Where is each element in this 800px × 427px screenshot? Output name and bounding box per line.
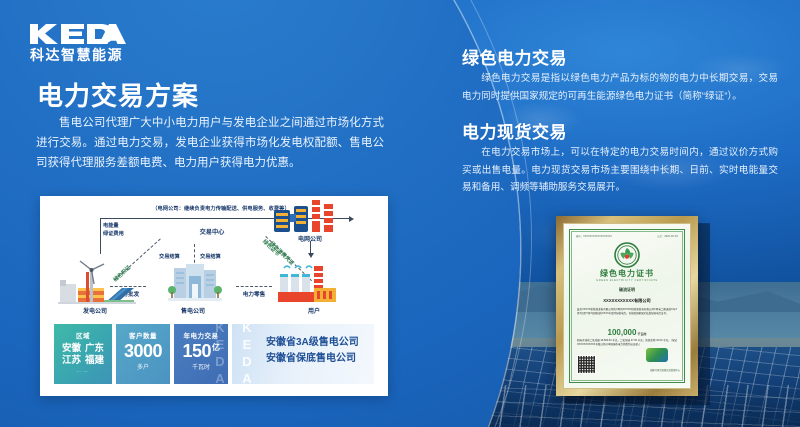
certificate-frame: 编号：XXXXXXXXXXXXXXXXXX 公示：202X-XX-XX 绿色电力… <box>556 216 698 396</box>
brand-logo-cn: 科达智慧能源 <box>30 48 126 62</box>
stat-card-annual-trade: 年电力交易 150亿 千瓦时 KEDA <box>174 324 228 384</box>
diagram-node-retailer: 售电公司 <box>158 306 228 315</box>
user-factory-illustration <box>278 262 338 304</box>
stat-customers-caption: 客户数量 <box>116 330 170 340</box>
green-certificate: 编号：XXXXXXXXXXXXXXXXXX 公示：202X-XX-XX 绿色电力… <box>556 216 704 402</box>
diagram-node-generator: 发电公司 <box>60 306 130 315</box>
stat-card-qualification: KEDA 安徽省3A级售电公司 安徽省保底售电公司 <box>232 324 374 384</box>
diagram-label-settle-left: 交易结算 <box>159 253 180 260</box>
diagram-label-settle-right: 交易结算 <box>200 253 221 260</box>
diagram-dash-retail <box>236 286 272 287</box>
stat-region-dots: …… <box>54 368 112 374</box>
certificate-body: 兹有XXXXX新能源发电有限公司的X风场XXXXX新能源发电有限公司X风电二期通… <box>577 308 677 316</box>
stats-row: 区域 安徽 广东 江苏 福建 …… 客户数量 3000 多户 年电力交易 150… <box>54 324 374 384</box>
region-item: 广东 <box>85 343 104 355</box>
diagram-label-cert-fee: 绿证费用 <box>103 230 124 237</box>
diagram-left-connector <box>100 218 101 254</box>
qualification-line-1: 安徽省3A级售电公司 <box>266 335 368 351</box>
qualification-lines: 安徽省3A级售电公司 安徽省保底售电公司 <box>266 335 368 367</box>
power-generation-illustration <box>58 258 136 304</box>
region-item: 安徽 <box>62 343 81 355</box>
certificate-seal-icon <box>614 242 640 268</box>
diagram-card: （电网公司：继续负责电力传输配送、供电服务、收费等） 电能量 绿证费用 交易中心… <box>40 196 388 396</box>
region-item: 江苏 <box>62 355 81 367</box>
certificate-number: 编号：XXXXXXXXXXXXXXXXXX <box>576 234 612 238</box>
stat-customers-sub: 多户 <box>116 362 170 371</box>
certificate-subtitle: GREEN ELECTRICITY CERTIFICATE <box>564 279 690 282</box>
stat-region-values: 安徽 广东 江苏 福建 <box>54 343 112 367</box>
brand-logo: 科达智慧能源 <box>30 22 126 62</box>
stat-card-region: 区域 安徽 广东 江苏 福建 …… <box>54 324 112 384</box>
stat-card-customers: 客户数量 3000 多户 <box>116 324 170 384</box>
region-item: 福建 <box>85 355 104 367</box>
qualification-line-2: 安徽省保底售电公司 <box>266 351 368 367</box>
certificate-title: 绿色电力证书 <box>564 268 690 279</box>
stat-customers-value: 3000 <box>116 342 170 361</box>
diagram-label-retail: 电力零售 <box>222 290 286 298</box>
certificate-company: XXXXXXXXXXX有限公司 <box>564 298 690 304</box>
certificate-page: 编号：XXXXXXXXXXXXXXXXXX 公示：202X-XX-XX 绿色电力… <box>563 223 691 389</box>
keda-logo-icon <box>30 22 126 46</box>
certificate-amount: 100,000 <box>608 328 637 337</box>
section-heading-green-power: 绿色电力交易 <box>462 44 567 69</box>
diagram-label-trading-center: 交易中心 <box>162 227 262 236</box>
grid-company-illustration <box>272 200 336 234</box>
certificate-issuer-name: 国家可再生能源信息管理中心 <box>624 368 680 372</box>
diagram-label-energy: 电能量 <box>103 222 119 229</box>
section-body-spot-trading: 在电力交易市场上，可以在特定的电力交易时间内，通过议价方式购买或出售电量。电力现… <box>462 144 778 197</box>
stat-trade-value: 150 <box>182 341 211 361</box>
page-title: 电力交易方案 <box>37 76 199 113</box>
stat-region-caption: 区域 <box>54 330 112 340</box>
retailer-building-illustration <box>168 260 222 304</box>
certificate-kind: 碳流证明 <box>564 287 690 293</box>
certificate-date: 公示：202X-XX-XX <box>657 234 678 238</box>
section-body-green-power: 绿色电力交易是指以绿色电力产品为标的物的电力中长期交易，交易电力同时提供国家规定… <box>462 70 778 105</box>
certificate-body-2: 相当于减排二氧化碳 49,500.00 千克，二氧化硫 47.00 千克，氮氧化… <box>577 339 677 347</box>
certificate-issuer-badge-icon <box>646 348 668 362</box>
section-heading-spot-trading: 电力现货交易 <box>462 118 567 143</box>
page-lead-paragraph: 售电公司代理广大中小电力用户与发电企业之间通过市场化方式进行交易。通过电力交易，… <box>36 113 384 173</box>
poster-canvas: 科达智慧能源 电力交易方案 售电公司代理广大中小电力用户与发电企业之间通过市场化… <box>0 0 800 427</box>
certificate-qr-code <box>577 355 596 374</box>
certificate-amount-wrap: 100,000千瓦时 <box>564 328 690 337</box>
diagram-node-grid: 电网公司 <box>280 234 340 243</box>
certificate-topline: 编号：XXXXXXXXXXXXXXXXXX 公示：202X-XX-XX <box>576 234 678 238</box>
diagram-node-user: 用户 <box>284 306 344 315</box>
keda-watermark-small: KEDA <box>208 324 228 384</box>
keda-watermark: KEDA <box>234 326 260 382</box>
certificate-amount-unit: 千瓦时 <box>637 332 646 336</box>
